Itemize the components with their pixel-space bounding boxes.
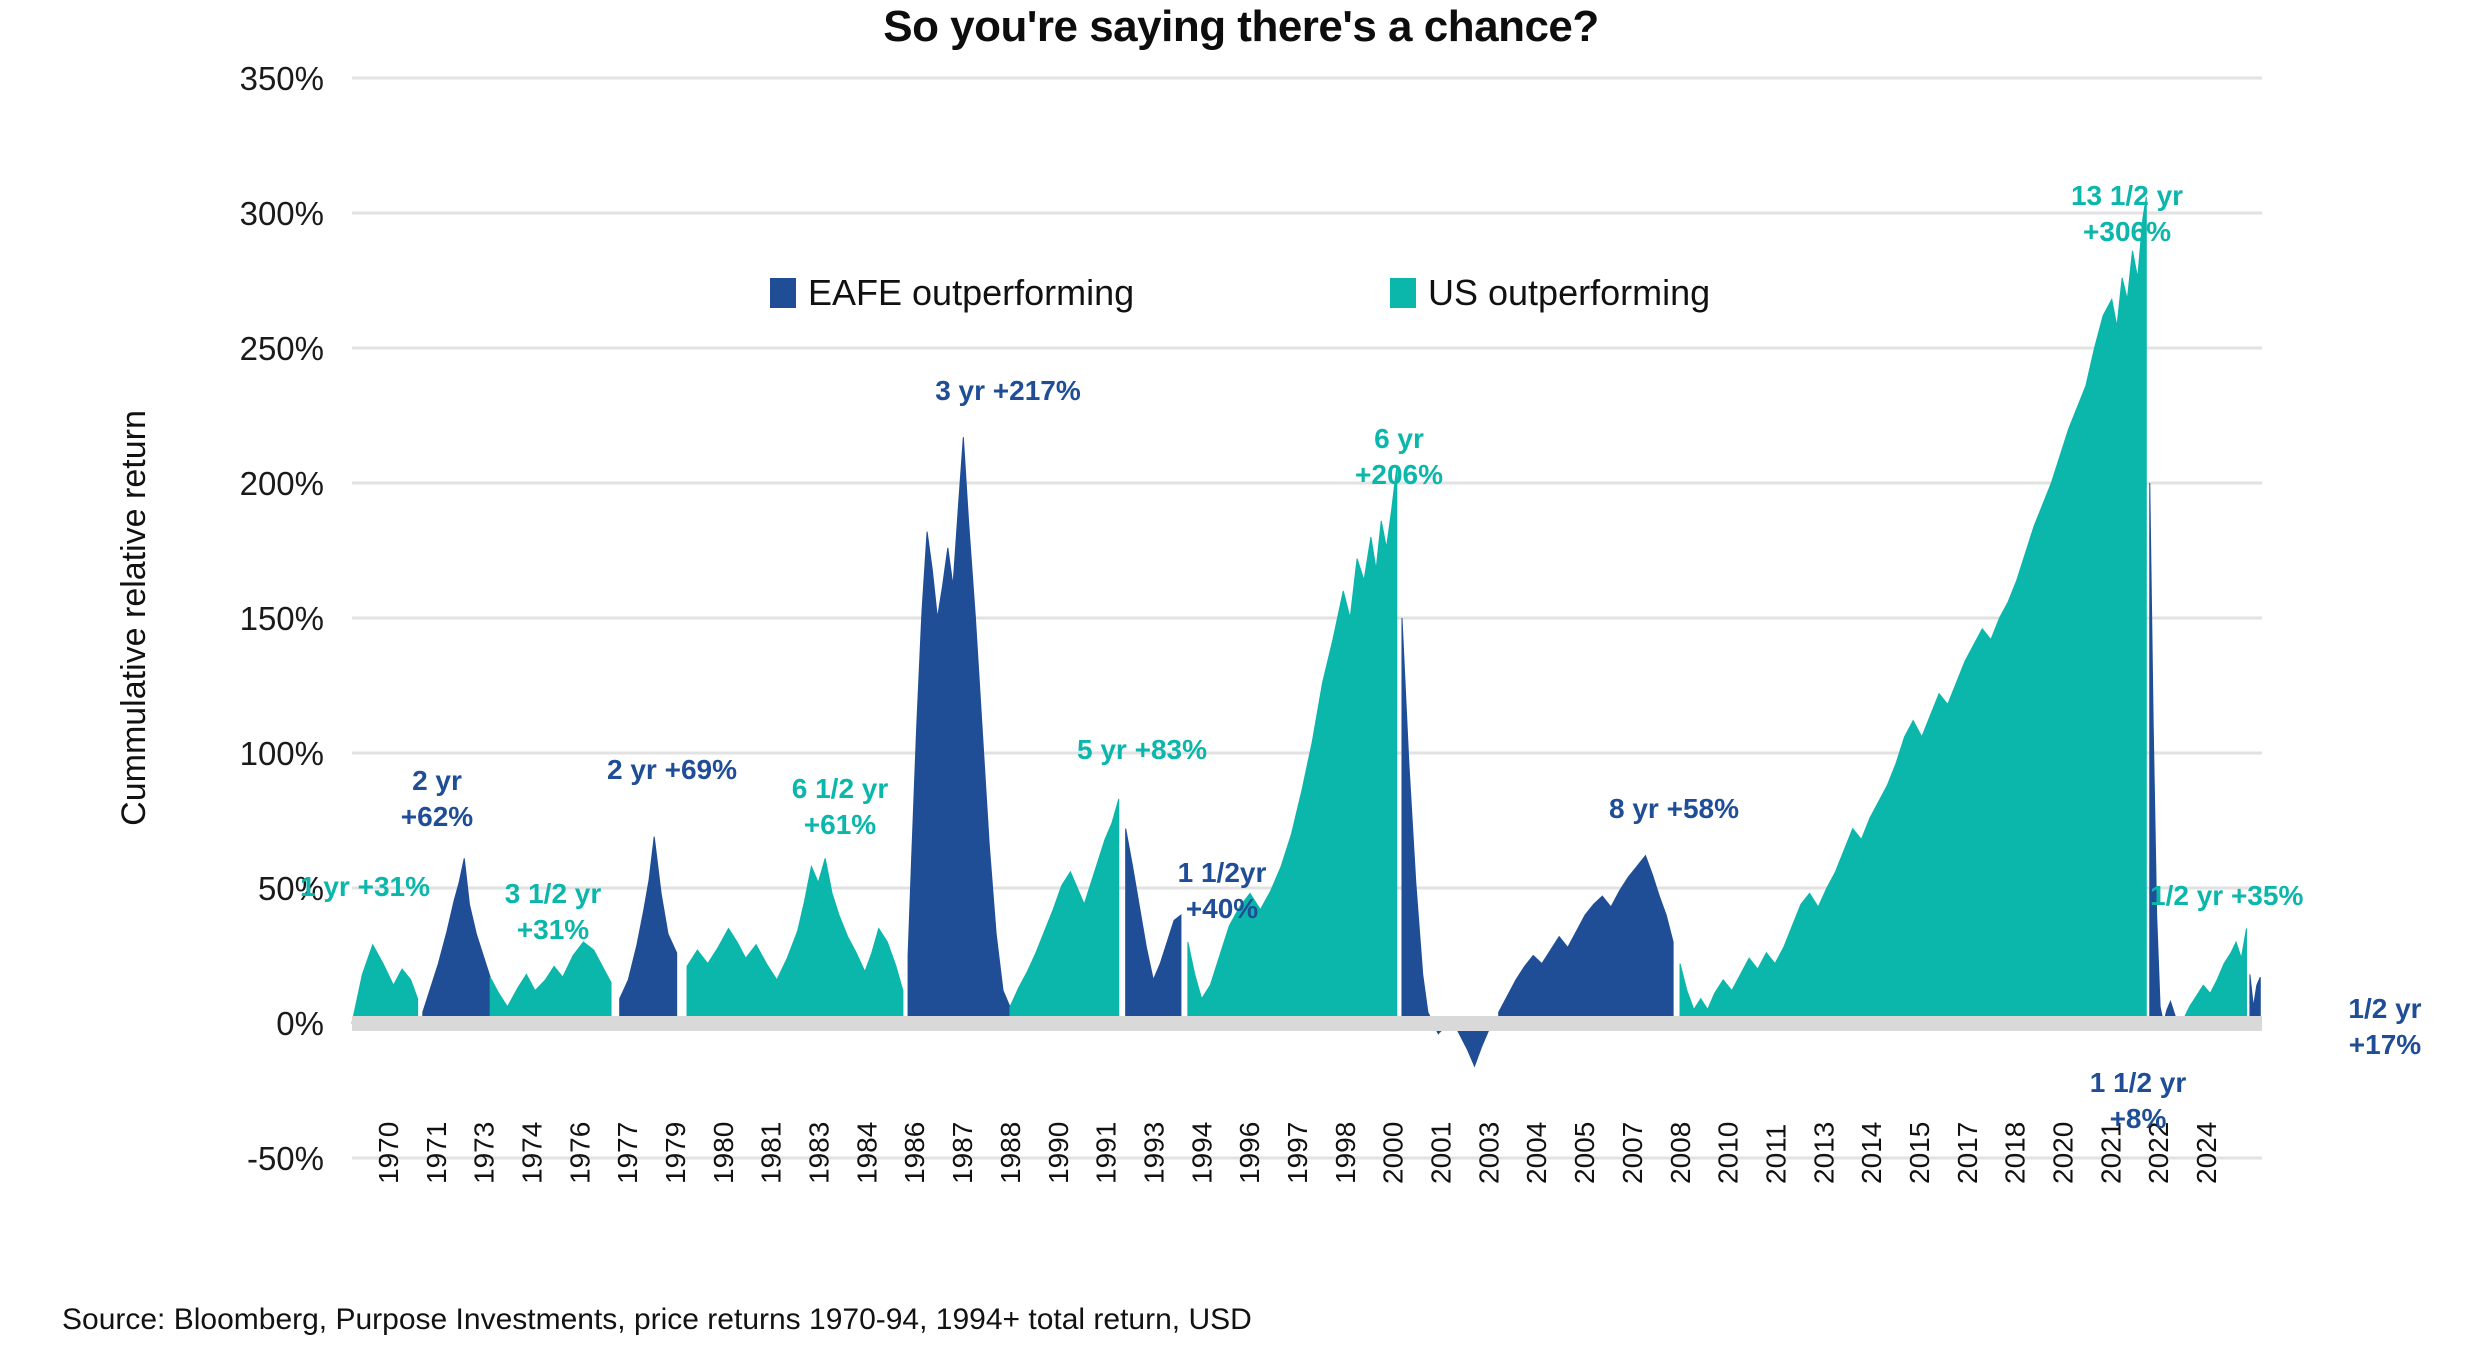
annotation-label: 1/2 yr bbox=[2348, 993, 2421, 1024]
annotation-label: 5 yr +83% bbox=[1077, 734, 1207, 765]
legend-swatch-eafe bbox=[770, 278, 796, 308]
annotation-label: 1 1/2yr bbox=[1178, 857, 1267, 888]
annotation-label: +61% bbox=[804, 809, 876, 840]
area-segment-us bbox=[352, 945, 418, 1023]
annotation-label: +40% bbox=[1186, 893, 1258, 924]
x-tick-label: 1990 bbox=[1043, 1122, 1074, 1184]
x-tick-label: 2014 bbox=[1856, 1122, 1887, 1184]
x-tick-label: 2020 bbox=[2048, 1122, 2079, 1184]
annotation-label: +206% bbox=[1355, 459, 1443, 490]
x-tick-label: 1997 bbox=[1282, 1122, 1313, 1184]
x-tick-label: 1991 bbox=[1091, 1122, 1122, 1184]
area-segment-us bbox=[1680, 197, 2146, 1023]
x-tick-label: 2001 bbox=[1426, 1122, 1457, 1184]
area-segment-eafe bbox=[620, 837, 677, 1023]
chart-canvas: 350%300%250%200%150%100%50%0%-50%Cummula… bbox=[0, 0, 2482, 1352]
x-tick-label: 2013 bbox=[1808, 1122, 1839, 1184]
x-tick-label: 1984 bbox=[851, 1122, 882, 1184]
legend-swatch-us bbox=[1390, 278, 1416, 308]
x-tick-label: 2005 bbox=[1569, 1122, 1600, 1184]
y-tick-label: -50% bbox=[247, 1140, 324, 1177]
annotation-label: 1 1/2 yr bbox=[2090, 1067, 2187, 1098]
area-segment-us bbox=[490, 942, 611, 1023]
annotation-label: 1/2 yr +35% bbox=[2150, 880, 2303, 911]
x-tick-label: 1979 bbox=[660, 1122, 691, 1184]
chart-legend: EAFE outperformingUS outperforming bbox=[770, 272, 1710, 313]
zero-baseline-band bbox=[352, 1016, 2262, 1031]
y-axis-title: Cummulative relative return bbox=[115, 410, 153, 826]
x-tick-labels: 1970197119731974197619771979198019811983… bbox=[373, 1122, 2222, 1184]
area-series-group bbox=[352, 197, 2260, 1066]
x-tick-label: 1980 bbox=[708, 1122, 739, 1184]
area-segment-us bbox=[1188, 467, 1397, 1023]
annotation-label: +62% bbox=[401, 801, 473, 832]
x-tick-label: 2024 bbox=[2191, 1122, 2222, 1184]
annotation-label: +8% bbox=[2110, 1103, 2167, 1134]
x-tick-label: 1993 bbox=[1139, 1122, 1170, 1184]
annotation-label: 6 1/2 yr bbox=[792, 773, 889, 804]
annotation-label: 3 1/2 yr bbox=[505, 878, 602, 909]
annotation-label: 3 yr +217% bbox=[935, 375, 1081, 406]
annotation-label: 6 yr bbox=[1374, 423, 1424, 454]
annotation-label: 2 yr bbox=[412, 765, 462, 796]
area-segment-eafe bbox=[908, 437, 1010, 1023]
x-tick-label: 1994 bbox=[1186, 1122, 1217, 1184]
annotation-label: +17% bbox=[2349, 1029, 2421, 1060]
x-tick-label: 1983 bbox=[804, 1122, 835, 1184]
source-note: Source: Bloomberg, Purpose Investments, … bbox=[62, 1303, 1252, 1337]
y-tick-label: 250% bbox=[240, 330, 324, 367]
x-tick-label: 1996 bbox=[1234, 1122, 1265, 1184]
x-tick-label: 1973 bbox=[469, 1122, 500, 1184]
legend-label-us: US outperforming bbox=[1428, 272, 1710, 313]
area-segment-eafe bbox=[1402, 618, 1494, 1066]
x-tick-label: 2000 bbox=[1378, 1122, 1409, 1184]
area-segment-eafe bbox=[1126, 829, 1181, 1023]
x-tick-label: 2010 bbox=[1713, 1122, 1744, 1184]
x-tick-label: 2015 bbox=[1904, 1122, 1935, 1184]
y-tick-label: 0% bbox=[276, 1005, 324, 1042]
x-tick-label: 1988 bbox=[995, 1122, 1026, 1184]
annotation-label: 1 yr +31% bbox=[300, 871, 430, 902]
annotation-label: 13 1/2 yr bbox=[2071, 180, 2183, 211]
y-tick-label: 200% bbox=[240, 465, 324, 502]
y-tick-label: 350% bbox=[240, 60, 324, 97]
area-segment-eafe bbox=[2150, 483, 2181, 1028]
legend-label-eafe: EAFE outperforming bbox=[808, 272, 1134, 313]
x-tick-label: 1981 bbox=[756, 1122, 787, 1184]
y-tick-label: 150% bbox=[240, 600, 324, 637]
y-tick-label: 300% bbox=[240, 195, 324, 232]
x-tick-label: 1971 bbox=[421, 1122, 452, 1184]
x-tick-label: 1987 bbox=[947, 1122, 978, 1184]
x-tick-label: 1970 bbox=[373, 1122, 404, 1184]
annotation-label: +31% bbox=[517, 914, 589, 945]
x-tick-label: 2008 bbox=[1665, 1122, 1696, 1184]
x-tick-label: 1977 bbox=[612, 1122, 643, 1184]
x-tick-label: 1974 bbox=[517, 1122, 548, 1184]
annotation-label: 2 yr +69% bbox=[607, 754, 737, 785]
chart-page: So you're saying there's a chance? 350%3… bbox=[0, 0, 2482, 1352]
annotation-label: 8 yr +58% bbox=[1609, 793, 1739, 824]
y-tick-label: 100% bbox=[240, 735, 324, 772]
area-segment-us bbox=[1010, 799, 1119, 1023]
area-segment-eafe bbox=[2250, 974, 2260, 1023]
x-tick-label: 2004 bbox=[1521, 1122, 1552, 1184]
area-segment-us bbox=[2181, 929, 2247, 1029]
x-tick-label: 2011 bbox=[1761, 1124, 1792, 1184]
annotation-label: +306% bbox=[2083, 216, 2171, 247]
x-tick-label: 1976 bbox=[564, 1122, 595, 1184]
x-tick-label: 2018 bbox=[2000, 1122, 2031, 1184]
area-segment-eafe bbox=[1499, 856, 1673, 1023]
x-tick-label: 1986 bbox=[899, 1122, 930, 1184]
x-tick-label: 2003 bbox=[1473, 1122, 1504, 1184]
x-tick-label: 2007 bbox=[1617, 1122, 1648, 1184]
x-tick-label: 1998 bbox=[1330, 1122, 1361, 1184]
x-tick-label: 2017 bbox=[1952, 1122, 1983, 1184]
area-segment-us bbox=[687, 858, 903, 1023]
area-segment-eafe bbox=[423, 858, 490, 1023]
